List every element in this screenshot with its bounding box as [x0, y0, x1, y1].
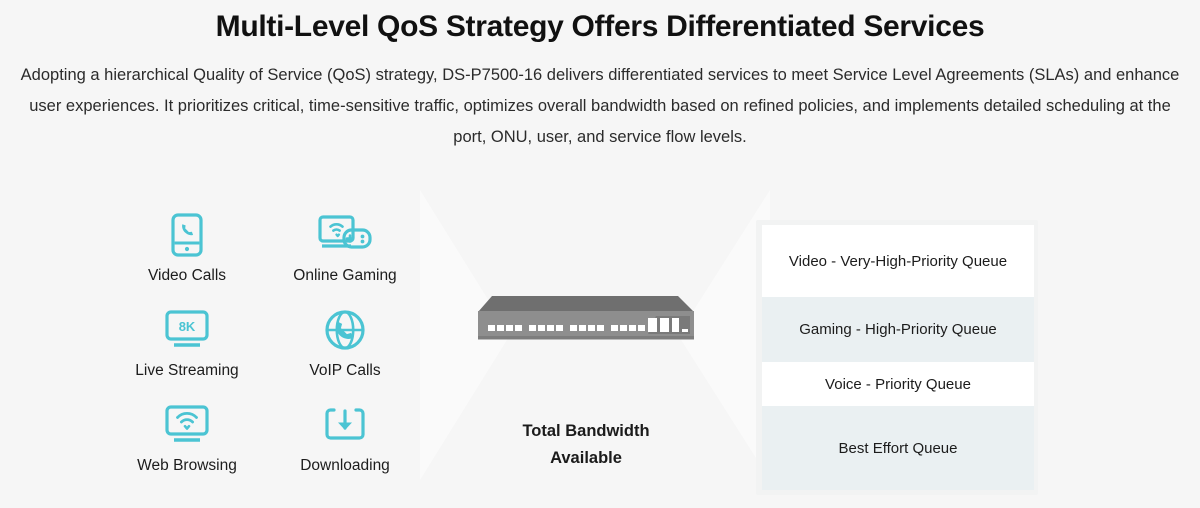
header: Multi-Level QoS Strategy Offers Differen… — [0, 0, 1200, 153]
service-label: VoIP Calls — [309, 362, 380, 380]
qos-strategy-slide: Multi-Level QoS Strategy Offers Differen… — [0, 0, 1200, 508]
queue-row[interactable]: Voice - Priority Queue — [762, 362, 1034, 406]
service-item-online-gaming: Online Gaming — [266, 212, 424, 307]
monitor-wifi-gamepad-icon — [318, 212, 372, 258]
badge-8k: 8K — [179, 319, 196, 334]
service-item-live-streaming: 8K Live Streaming — [108, 307, 266, 402]
center-caption-line1: Total Bandwidth — [430, 418, 742, 445]
service-label: Video Calls — [148, 267, 226, 285]
queue-row[interactable]: Video - Very-High-Priority Queue — [762, 225, 1034, 297]
service-label: Live Streaming — [135, 362, 238, 380]
service-icon-grid: Video Calls — [108, 212, 428, 497]
service-item-downloading: Downloading — [266, 402, 424, 497]
service-label: Online Gaming — [293, 267, 396, 285]
monitor-wifi-icon — [165, 402, 209, 448]
queue-row[interactable]: Gaming - High-Priority Queue — [762, 297, 1034, 362]
queue-stack: Video - Very-High-Priority Queue Gaming … — [762, 225, 1034, 490]
globe-handset-icon — [323, 307, 367, 353]
center-caption-line2: Available — [430, 445, 742, 472]
service-item-video-calls: Video Calls — [108, 212, 266, 307]
qos-diagram: Video Calls — [0, 190, 1200, 508]
queue-label: Best Effort Queue — [839, 440, 958, 457]
service-label: Downloading — [300, 457, 390, 475]
service-item-voip-calls: VoIP Calls — [266, 307, 424, 402]
phone-in-smartphone-icon — [170, 212, 204, 258]
intro-paragraph: Adopting a hierarchical Quality of Servi… — [15, 60, 1185, 153]
page-title: Multi-Level QoS Strategy Offers Differen… — [0, 6, 1200, 48]
download-tray-icon — [324, 402, 366, 448]
queue-row[interactable]: Best Effort Queue — [762, 406, 1034, 490]
service-label: Web Browsing — [137, 457, 237, 475]
service-item-web-browsing: Web Browsing — [108, 402, 266, 497]
monitor-8k-icon: 8K — [165, 307, 209, 353]
center-column: Total Bandwidth Available — [430, 190, 742, 480]
center-caption: Total Bandwidth Available — [430, 418, 742, 472]
queue-label: Gaming - High-Priority Queue — [799, 321, 997, 338]
network-switch-device — [478, 294, 694, 340]
queue-label: Video - Very-High-Priority Queue — [789, 253, 1007, 270]
queue-label: Voice - Priority Queue — [825, 376, 971, 393]
